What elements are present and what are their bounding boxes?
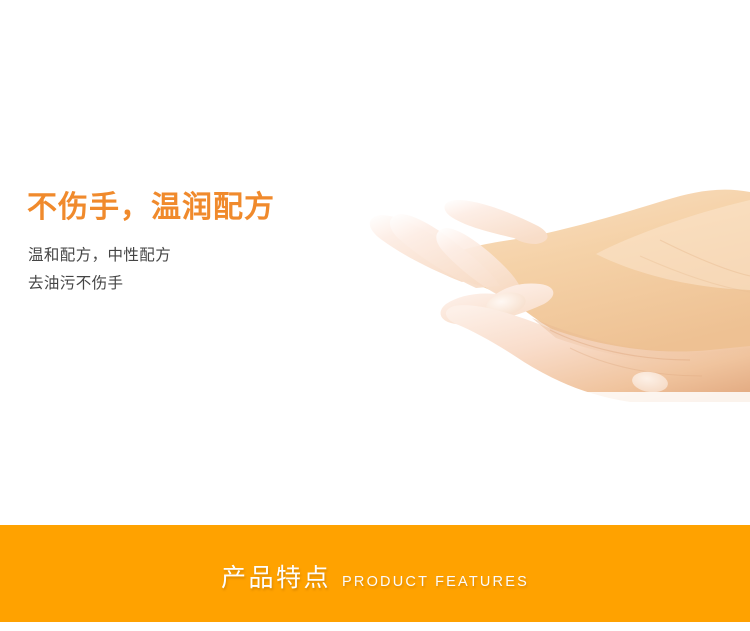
hands-illustration: [300, 170, 750, 405]
section-title-chinese: 产品特点: [221, 558, 331, 594]
hero-subcopy: 温和配方，中性配方 去油污不伤手: [28, 242, 327, 298]
hero-copy-block: 不伤手，温润配方 温和配方，中性配方 去油污不伤手: [27, 188, 327, 298]
hands-photo: [300, 170, 750, 405]
product-feature-promo-banner: 不伤手，温润配方 温和配方，中性配方 去油污不伤手 产品特点 PRODUCT F…: [0, 0, 750, 631]
hero-headline: 不伤手，温润配方: [27, 188, 327, 228]
hero-subcopy-line-1: 温和配方，中性配方: [28, 242, 327, 270]
section-banner: 产品特点 PRODUCT FEATURES: [0, 525, 750, 622]
hero-subcopy-line-2: 去油污不伤手: [28, 270, 327, 298]
section-banner-inner: 产品特点 PRODUCT FEATURES: [221, 558, 529, 594]
section-title-english: PRODUCT FEATURES: [342, 574, 529, 590]
